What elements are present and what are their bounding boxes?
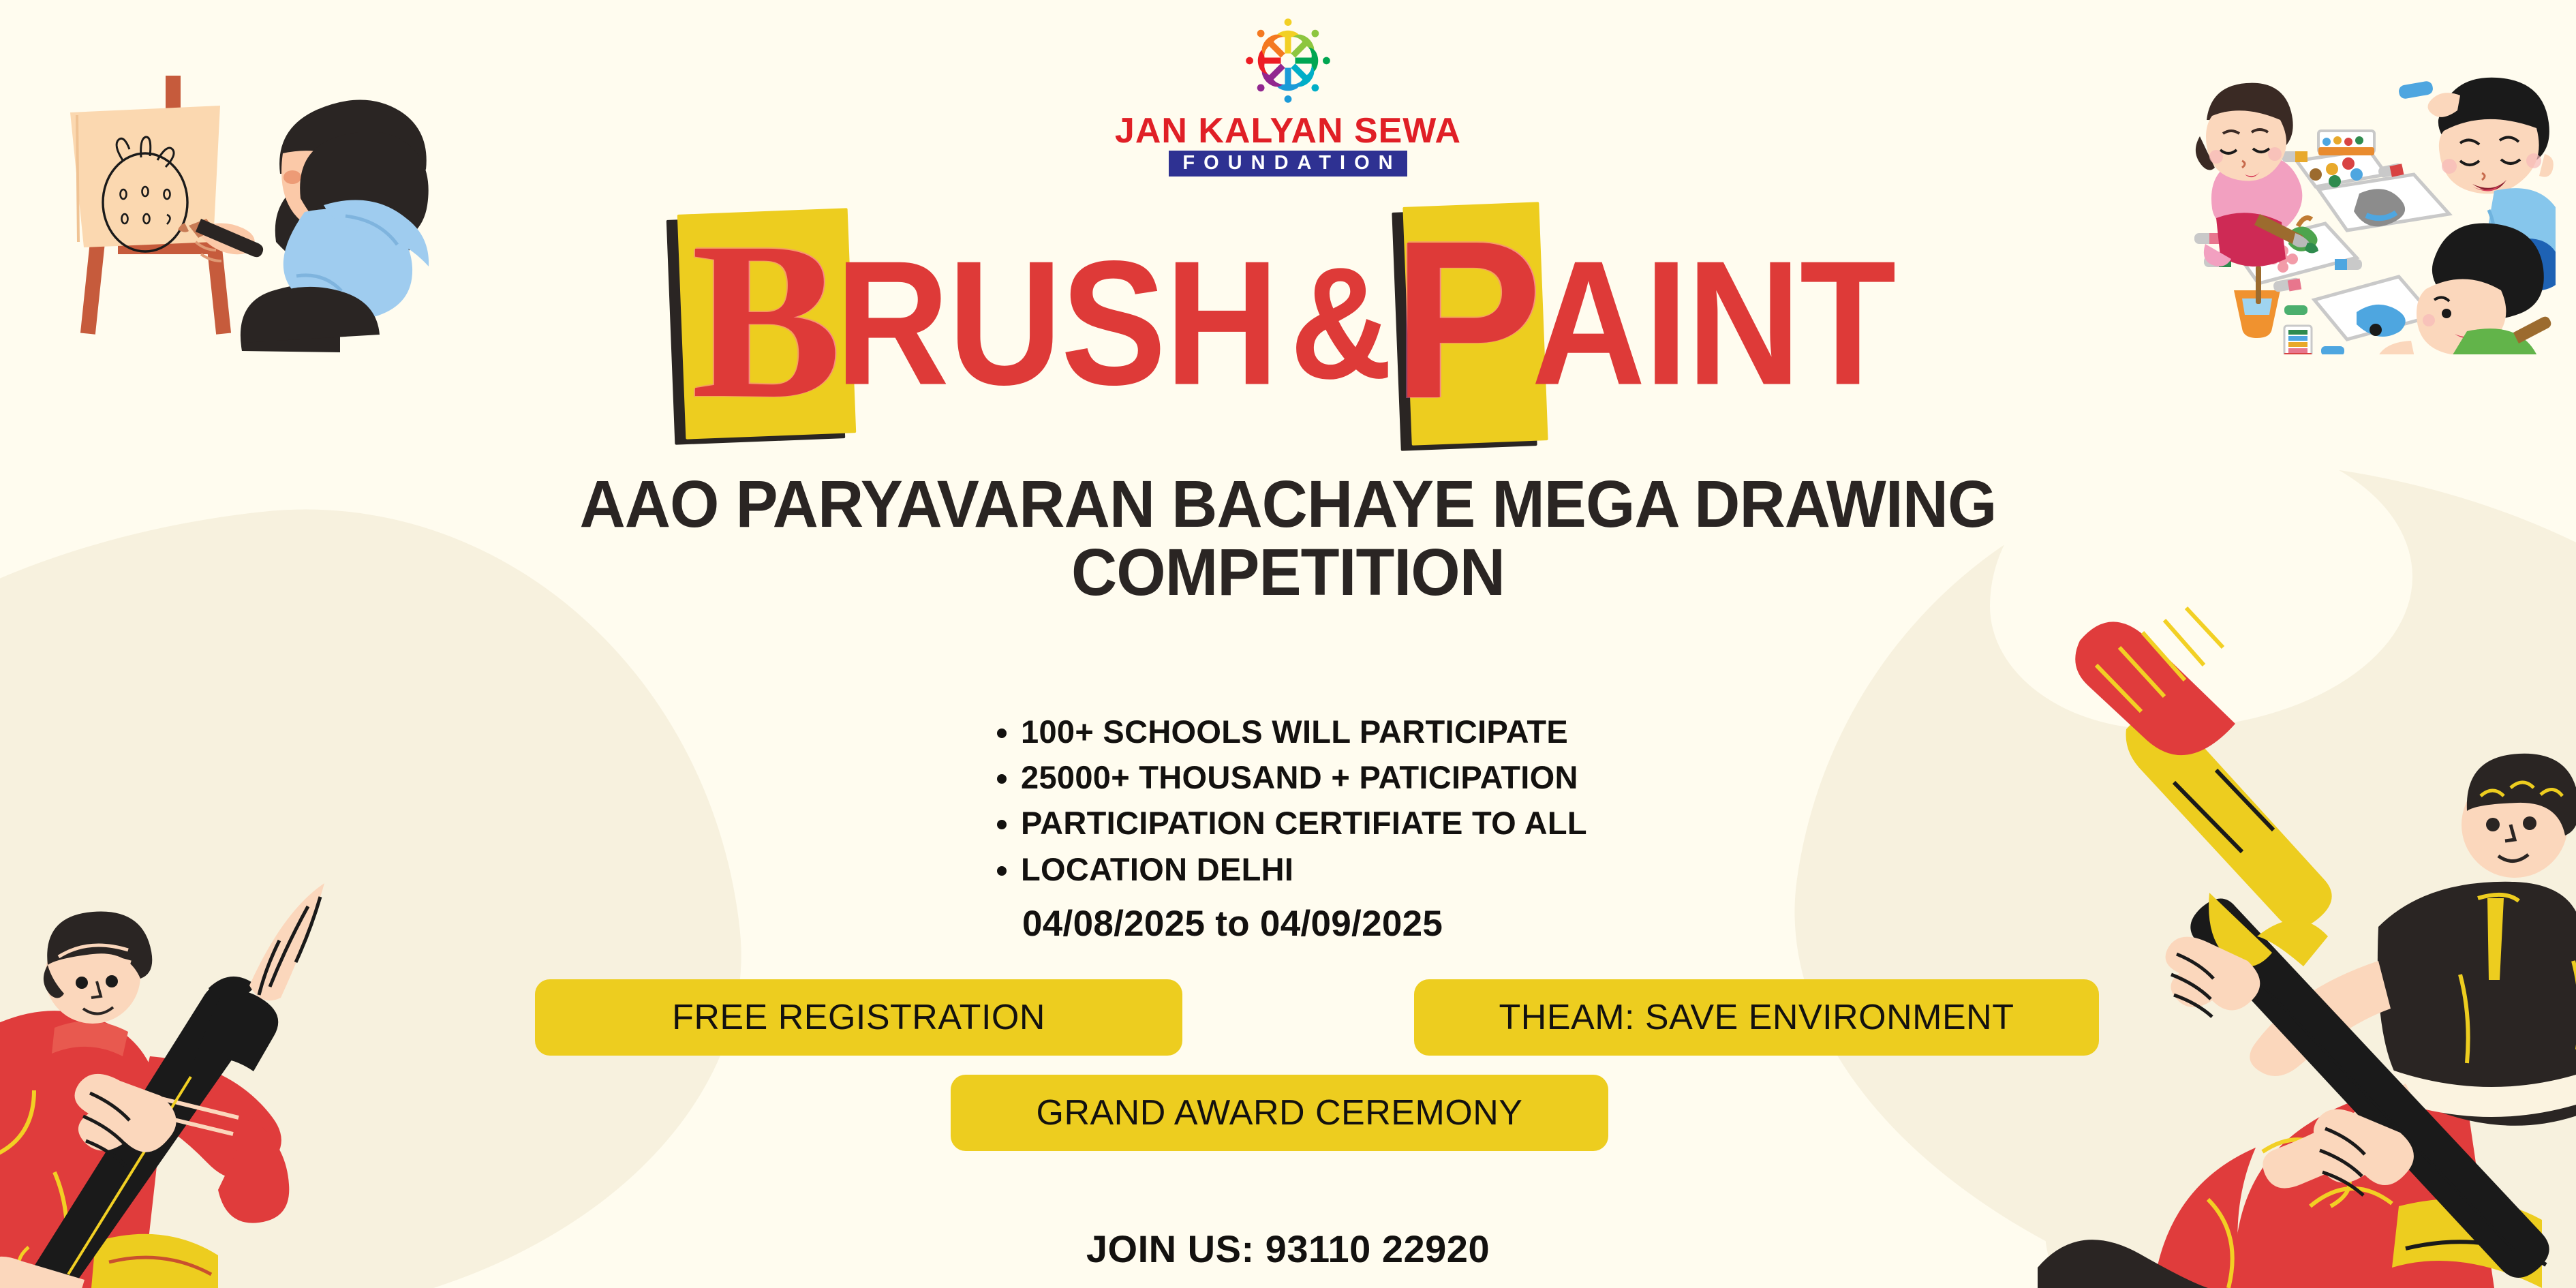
list-item: 100+ SCHOOLS WILL PARTICIPATE xyxy=(1021,709,1587,754)
child-painting-at-easel-illustration xyxy=(37,37,446,365)
title-cap-b: B xyxy=(681,211,852,436)
logo-name: JAN KALYAN SEWA xyxy=(1115,113,1461,149)
people-circle-logo-icon xyxy=(1237,10,1339,112)
title-cap-p-letter: P xyxy=(1399,200,1535,439)
title-cap-b-letter: B xyxy=(681,209,852,433)
theme-badge[interactable]: THEAM: SAVE ENVIRONMENT xyxy=(1414,979,2099,1056)
event-dates: 04/08/2025 to 04/09/2025 xyxy=(1022,903,1443,945)
title-cap-p: P xyxy=(1407,204,1544,443)
free-registration-button[interactable]: FREE REGISTRATION xyxy=(535,979,1182,1056)
person-holding-large-paintbrush-illustration xyxy=(0,736,402,1288)
logo-subtitle: FOUNDATION xyxy=(1169,151,1407,177)
title-word-rush: RUSH xyxy=(835,235,1278,412)
list-item: 25000+ THOUSAND + PATICIPATION xyxy=(1021,754,1587,800)
grand-award-ceremony-badge[interactable]: GRAND AWARD CEREMONY xyxy=(951,1075,1608,1151)
list-item: LOCATION DELHI xyxy=(1021,846,1587,892)
kids-painting-on-floor-illustration xyxy=(2174,48,2556,354)
title-ampersand: & xyxy=(1290,245,1391,403)
title-word-aint: AINT xyxy=(1531,235,1895,412)
man-holding-giant-paintbrush-illustration xyxy=(2038,525,2576,1288)
poster-canvas: JAN KALYAN SEWA FOUNDATION B RUSH & P AI… xyxy=(0,0,2576,1288)
event-highlights: 100+ SCHOOLS WILL PARTICIPATE 25000+ THO… xyxy=(995,709,1587,892)
list-item: PARTICIPATION CERTIFIATE TO ALL xyxy=(1021,800,1587,846)
